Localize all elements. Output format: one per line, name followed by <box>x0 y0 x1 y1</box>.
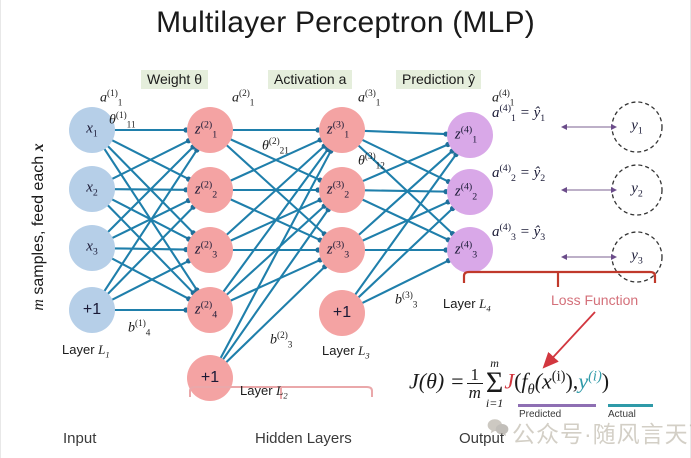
formula-y-sup: (i) <box>588 368 602 384</box>
formula-f-sub: θ <box>528 382 535 398</box>
mlp-diagram-canvas: Multilayer Perceptron (MLP) m samples, f… <box>0 0 691 458</box>
edge-L2-L3 <box>224 149 328 291</box>
annotation-theta11-layer1: θ(1)11 <box>109 110 136 129</box>
layer-caption-L1: Layer L1 <box>62 342 110 360</box>
annotation-a1-layer2: a(2)1 <box>232 88 254 107</box>
formula-summation: m Σ i=1 <box>486 358 503 409</box>
annotation-theta21-layer2: θ(2)21 <box>262 136 289 155</box>
node-L2-5[interactable] <box>187 355 233 401</box>
layer-caption-L2: Layer L2 <box>240 383 288 401</box>
edge-L3-L4 <box>365 131 446 134</box>
node-L1-4[interactable] <box>69 287 115 333</box>
node-L4-3[interactable] <box>447 227 493 273</box>
section-label-input: Input <box>63 430 96 447</box>
formula-loss-j: J <box>504 369 514 394</box>
node-L2-3[interactable] <box>187 227 233 273</box>
formula-close-paren: ) <box>602 369 609 394</box>
node-L3-3[interactable] <box>319 227 365 273</box>
formula-fraction: 1 m <box>467 366 483 402</box>
node-L3-4[interactable] <box>319 290 365 336</box>
output-equation-2: a(4)2 = ŷ2 <box>492 163 545 184</box>
sigma-glyph: Σ <box>486 369 503 398</box>
badge-activation: Activation a <box>268 70 352 89</box>
formula-x-close: ), <box>565 369 578 394</box>
annotation-a1-layer1: a(1)1 <box>100 88 122 107</box>
layer-caption-L3: Layer L3 <box>322 343 370 361</box>
node-L3-1[interactable] <box>319 107 365 153</box>
annotation-b3-layer2: b(2)3 <box>270 330 292 349</box>
node-L1-3[interactable] <box>69 225 115 271</box>
annotation-b3-layer3: b(3)3 <box>395 290 417 309</box>
annotation-a1-layer3: a(3)1 <box>358 88 380 107</box>
node-L2-1[interactable] <box>187 107 233 153</box>
target-label-1: y1 <box>631 118 643 137</box>
node-L2-4[interactable] <box>187 287 233 333</box>
section-label-hidden: Hidden Layers <box>255 430 352 447</box>
badge-weight: Weight θ <box>141 70 208 89</box>
predicted-label: Predicted <box>519 409 561 420</box>
network-edges <box>105 127 459 362</box>
output-equation-3: a(4)3 = ŷ3 <box>492 222 545 243</box>
loss-bracket <box>464 272 655 283</box>
annotation-b4-layer1: b(1)4 <box>128 318 150 337</box>
node-L4-2[interactable] <box>447 169 493 215</box>
output-equation-1: a(4)1 = ŷ1 <box>492 103 545 124</box>
node-L2-2[interactable] <box>187 167 233 213</box>
target-nodes <box>567 102 662 282</box>
actual-label: Actual <box>608 409 636 420</box>
target-label-3: y3 <box>631 248 643 267</box>
formula-lhs: J(θ) = <box>409 369 465 394</box>
layer-caption-L4: Layer L4 <box>443 296 491 314</box>
loss-function-label: Loss Function <box>551 292 638 308</box>
edge-L2-L3 <box>221 151 331 358</box>
edge-L3-L4 <box>365 190 446 191</box>
cost-function-formula: J(θ) = 1 m m Σ i=1 J(fθ(x(i)),y(i)) <box>409 358 609 409</box>
annotation-theta12-layer3: θ(3)12 <box>358 151 385 170</box>
section-label-output: Output <box>459 430 504 447</box>
badge-prediction: Prediction ŷ <box>396 70 481 89</box>
target-label-2: y2 <box>631 181 643 200</box>
formula-y: y <box>578 369 588 394</box>
predicted-underline <box>518 404 596 407</box>
node-L1-2[interactable] <box>69 166 115 212</box>
formula-x-sup: (i) <box>552 368 566 384</box>
node-L3-2[interactable] <box>319 167 365 213</box>
node-L4-1[interactable] <box>447 112 493 158</box>
formula-x: (x <box>535 369 552 394</box>
actual-underline <box>608 404 653 407</box>
